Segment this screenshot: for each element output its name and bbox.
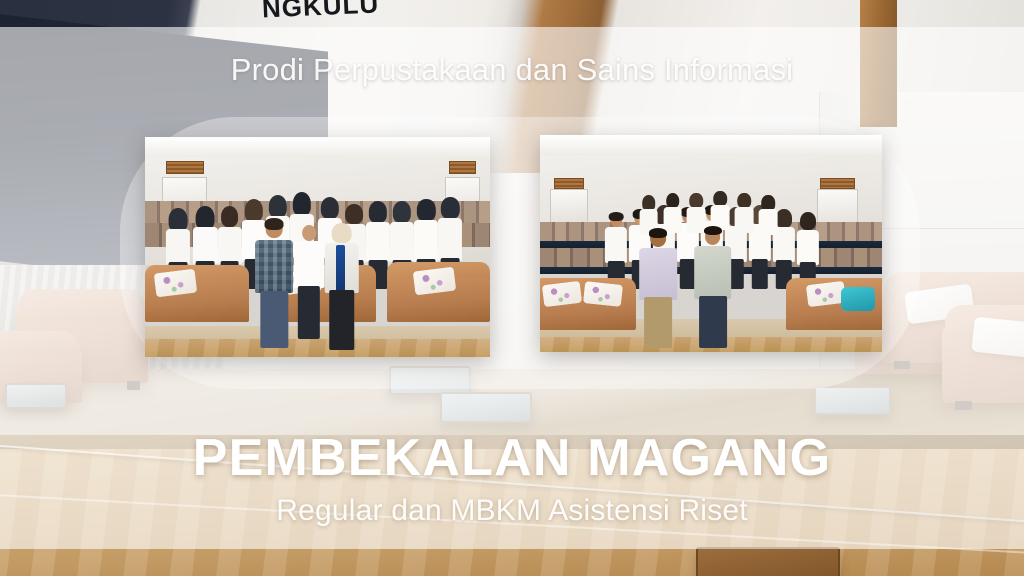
- photo-right-teal-backpack: [841, 287, 875, 311]
- photo-right-person: [735, 194, 754, 233]
- photo-right-pillow-l: [542, 280, 582, 306]
- photo-left-ceiling: [145, 137, 490, 157]
- photo-right-pillow-l2: [583, 281, 623, 306]
- photo-left-louver-a: [166, 161, 204, 174]
- photo-right-person: [687, 194, 706, 233]
- photo-left: [145, 137, 490, 357]
- photo-right-pillow-r: [806, 280, 846, 306]
- background-table-foreground: [696, 547, 839, 576]
- photo-right: [540, 135, 882, 352]
- photo-left-louver-b: [449, 161, 477, 174]
- photo-left-speaker: [324, 225, 359, 350]
- photo-right-window-a: [550, 189, 588, 224]
- photo-right-person: [663, 194, 682, 233]
- slide-canvas: NGKULU: [0, 0, 1024, 576]
- page-title: PEMBEKALAN MAGANG: [0, 428, 1024, 488]
- supertitle: Prodi Perpustakaan dan Sains Informasi: [0, 52, 1024, 88]
- photo-right-louver-a: [554, 178, 585, 189]
- photo-right-louver-b: [820, 178, 854, 189]
- photo-left-floor: [145, 339, 490, 357]
- photo-right-person: [759, 196, 778, 235]
- photo-right-front-man-right: [694, 228, 732, 347]
- photo-left-lecturer: [255, 221, 293, 349]
- photo-right-person: [711, 191, 730, 230]
- subtitle: Regular dan MBKM Asistensi Riset: [0, 494, 1024, 528]
- photo-right-ceiling: [540, 135, 882, 155]
- photo-right-front-man-left: [639, 230, 677, 347]
- photo-left-person: [293, 225, 324, 339]
